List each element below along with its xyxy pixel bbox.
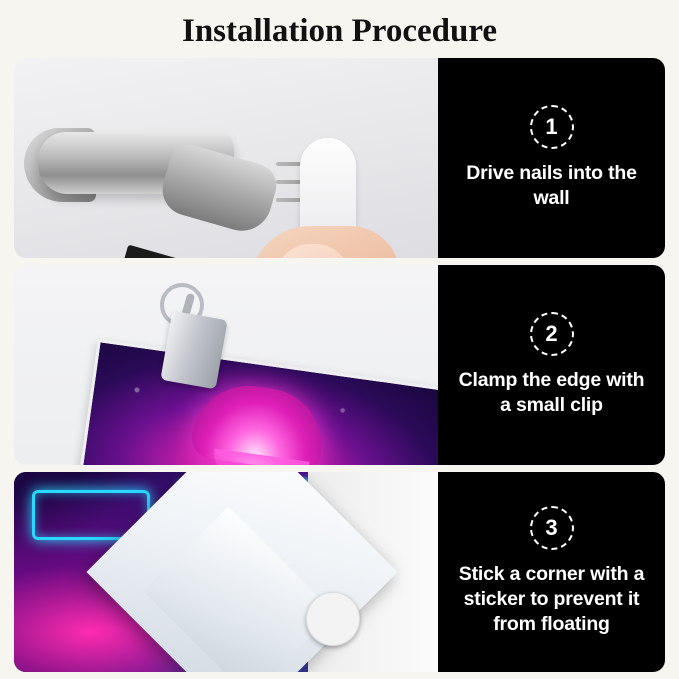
hammer-collar-shape	[122, 244, 197, 257]
page-title: Installation Procedure	[0, 0, 679, 58]
step-row: 3 Stick a corner with a sticker to preve…	[14, 472, 665, 672]
step-text: Clamp the edge with a small clip	[448, 368, 655, 418]
adhesive-sticker-shape	[306, 592, 360, 646]
step-number-badge: 3	[530, 506, 574, 550]
step-panel: 1 Drive nails into the wall	[438, 58, 665, 258]
metal-clip-shape	[160, 310, 227, 389]
hammer-neck-shape	[156, 140, 281, 238]
installation-procedure-page: Installation Procedure 1 Drive nails int…	[0, 0, 679, 679]
corner-sticker-photo	[14, 472, 438, 672]
step-panel: 3 Stick a corner with a sticker to preve…	[438, 472, 665, 672]
clip-on-tapestry-photo	[14, 265, 438, 465]
step-panel: 2 Clamp the edge with a small clip	[438, 265, 665, 465]
steps-list: 1 Drive nails into the wall 2 Clamp the …	[0, 58, 679, 672]
step-text: Stick a corner with a sticker to prevent…	[448, 562, 655, 637]
step-row: 2 Clamp the edge with a small clip	[14, 265, 665, 465]
step-number-badge: 2	[530, 312, 574, 356]
step-number-badge: 1	[530, 105, 574, 149]
step-text: Drive nails into the wall	[448, 161, 655, 211]
step-row: 1 Drive nails into the wall	[14, 58, 665, 258]
hammer-and-nail-holder-photo	[14, 58, 438, 258]
